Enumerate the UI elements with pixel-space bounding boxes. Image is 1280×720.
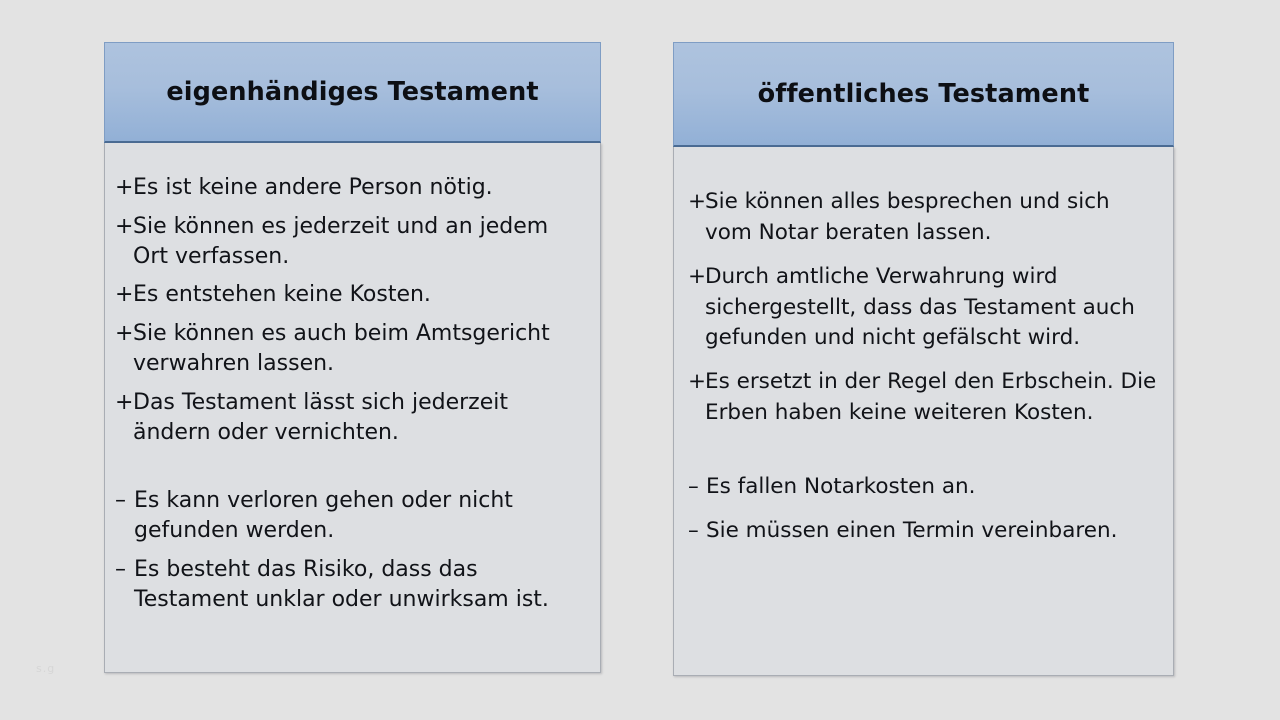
pros-list-oeffentliches: + Sie können alles besprechen und sich v… xyxy=(688,187,1159,429)
list-item: + Es entstehen keine Kosten. xyxy=(115,280,586,310)
comparison-card-eigenhaendiges-testament: eigenhändiges Testament + Es ist keine a… xyxy=(104,42,601,673)
list-item: + Es ist keine andere Person nötig. xyxy=(115,173,586,203)
list-item: + Das Testament lässt sich jederzeit änd… xyxy=(115,388,586,448)
list-item: + Durch amtliche Verwahrung wird sicherg… xyxy=(688,262,1159,355)
plus-sign-icon: + xyxy=(688,187,705,218)
plus-sign-icon: + xyxy=(115,173,133,203)
list-item: + Sie können es auch beim Amtsgericht ve… xyxy=(115,319,586,379)
list-item: + Es ersetzt in der Regel den Erbschein.… xyxy=(688,367,1159,429)
slide-canvas: eigenhändiges Testament + Es ist keine a… xyxy=(0,0,1280,720)
list-item-text: Sie können es jederzeit und an jedem Ort… xyxy=(133,212,586,272)
pros-list-eigenhaendiges: + Es ist keine andere Person nötig. + Si… xyxy=(115,173,586,447)
list-item: – Es kann verloren gehen oder nicht gefu… xyxy=(115,486,586,546)
cons-list-eigenhaendiges: – Es kann verloren gehen oder nicht gefu… xyxy=(115,486,586,614)
watermark-text: s.g xyxy=(36,662,55,675)
list-item-text: Sie können alles besprechen und sich vom… xyxy=(705,187,1159,249)
list-item-text: Es kann verloren gehen oder nicht gefund… xyxy=(134,486,586,546)
minus-sign-icon: – xyxy=(688,472,706,503)
plus-sign-icon: + xyxy=(688,262,705,293)
list-item-text: Das Testament lässt sich jederzeit änder… xyxy=(133,388,586,448)
list-item: – Sie müssen einen Termin vereinbaren. xyxy=(688,516,1159,547)
minus-sign-icon: – xyxy=(688,516,706,547)
card-body-oeffentliches: + Sie können alles besprechen und sich v… xyxy=(673,147,1174,676)
card-header-eigenhaendiges: eigenhändiges Testament xyxy=(104,42,601,143)
list-item-text: Es entstehen keine Kosten. xyxy=(133,280,586,310)
card-title-oeffentliches: öffentliches Testament xyxy=(758,80,1090,108)
plus-sign-icon: + xyxy=(115,388,133,418)
list-item-text: Sie müssen einen Termin vereinbaren. xyxy=(706,516,1159,547)
list-item-text: Es besteht das Risiko, dass das Testamen… xyxy=(134,555,586,615)
list-item-text: Sie können es auch beim Amtsgericht verw… xyxy=(133,319,586,379)
list-item: – Es besteht das Risiko, dass das Testam… xyxy=(115,555,586,615)
plus-sign-icon: + xyxy=(115,319,133,349)
list-item-text: Es fallen Notarkosten an. xyxy=(706,472,1159,503)
card-header-oeffentliches: öffentliches Testament xyxy=(673,42,1174,147)
comparison-card-oeffentliches-testament: öffentliches Testament + Sie können alle… xyxy=(673,42,1174,676)
plus-sign-icon: + xyxy=(115,280,133,310)
list-item: – Es fallen Notarkosten an. xyxy=(688,472,1159,503)
list-item: + Sie können alles besprechen und sich v… xyxy=(688,187,1159,249)
list-item-text: Es ersetzt in der Regel den Erbschein. D… xyxy=(705,367,1159,429)
plus-sign-icon: + xyxy=(688,367,705,398)
minus-sign-icon: – xyxy=(115,555,134,585)
list-item-text: Durch amtliche Verwahrung wird sicherges… xyxy=(705,262,1159,355)
plus-sign-icon: + xyxy=(115,212,133,242)
list-item: + Sie können es jederzeit und an jedem O… xyxy=(115,212,586,272)
card-title-eigenhaendiges: eigenhändiges Testament xyxy=(166,78,538,106)
section-spacer xyxy=(115,456,586,486)
list-item-text: Es ist keine andere Person nötig. xyxy=(133,173,586,203)
section-spacer xyxy=(688,442,1159,472)
card-body-eigenhaendiges: + Es ist keine andere Person nötig. + Si… xyxy=(104,143,601,673)
minus-sign-icon: – xyxy=(115,486,134,516)
cons-list-oeffentliches: – Es fallen Notarkosten an. – Sie müssen… xyxy=(688,472,1159,547)
